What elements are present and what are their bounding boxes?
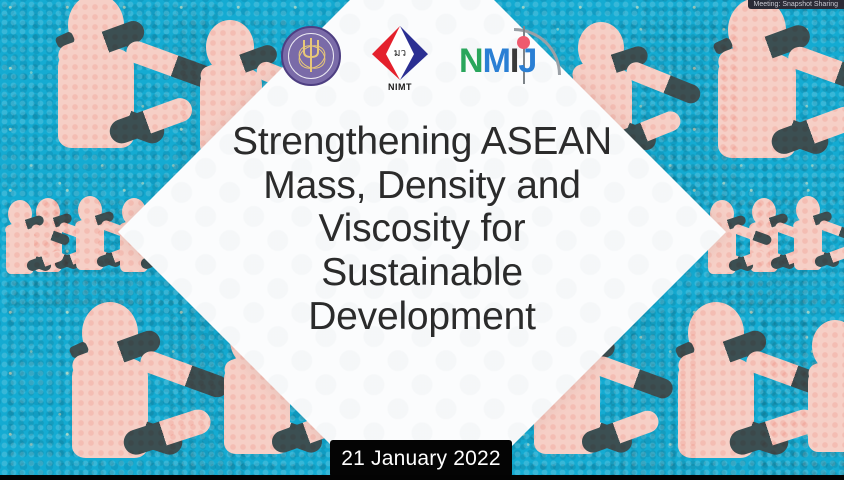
title-line: Viscosity for <box>162 207 682 251</box>
nmij-letter-i: I <box>510 42 518 81</box>
title-line: Sustainable <box>162 251 682 295</box>
bottom-black-strip <box>0 475 844 480</box>
nmij-letter-n: N <box>459 42 483 81</box>
date-banner: 21 January 2022 <box>330 440 512 477</box>
nmij-logo: N M I J <box>459 26 563 88</box>
title-line: Mass, Density and <box>162 164 682 208</box>
nimt-logo: มว NIMT <box>369 26 431 92</box>
trident-glyph-icon <box>296 38 326 74</box>
university-seal-logo <box>281 26 341 86</box>
page-title: Strengthening ASEAN Mass, Density and Vi… <box>162 120 682 338</box>
meeting-status-overlay[interactable]: Meeting: Snapshot Sharing <box>748 0 844 9</box>
nimt-center-glyph: มว <box>386 26 414 80</box>
title-line: Development <box>162 295 682 339</box>
trident-icon <box>296 38 326 74</box>
presentation-slide: มว NIMT N M I J Strengthening ASEAN Mass… <box>0 0 844 480</box>
nmij-letter-m: M <box>483 42 510 81</box>
meeting-status-text: Meeting: Snapshot Sharing <box>754 1 838 8</box>
title-line: Strengthening ASEAN <box>162 120 682 164</box>
nimt-diamond-icon: มว <box>372 26 428 80</box>
nmij-pendulum-bob-icon <box>517 36 530 49</box>
logo-row: มว NIMT N M I J <box>281 26 563 98</box>
slide-content: มว NIMT N M I J Strengthening ASEAN Mass… <box>0 0 844 480</box>
nimt-caption: NIMT <box>388 82 412 92</box>
date-text: 21 January 2022 <box>341 447 500 471</box>
